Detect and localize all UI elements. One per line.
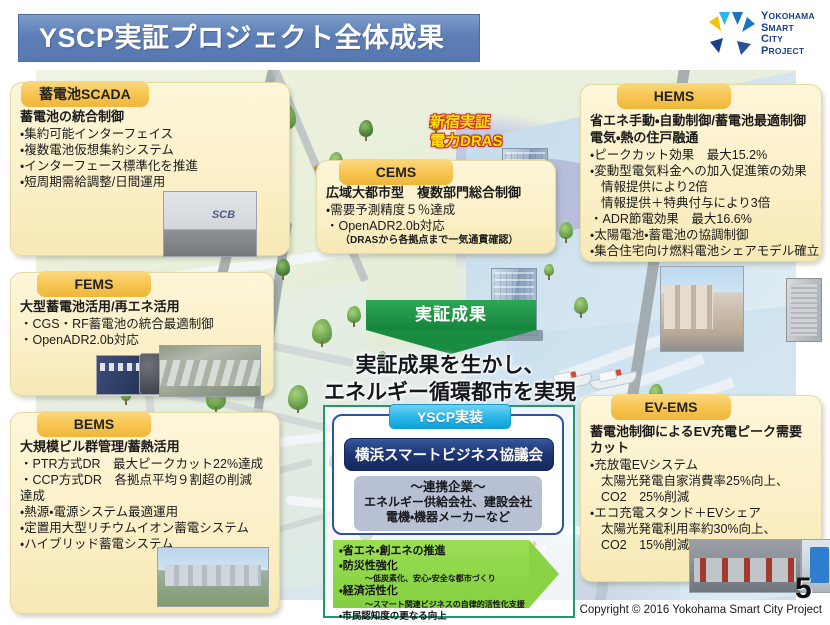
panel-list-item: ・需要予測精度５％達成 <box>326 202 547 218</box>
panel-headline: 蓄電池の統合制御 <box>20 109 281 125</box>
outcomes-arrow: ・省エネ・創エネの推進 ・防災性強化 ～低炭素化、安心・安全な都市づくり ・経済… <box>333 540 559 608</box>
photo-storage-battery-cabinet <box>786 278 822 342</box>
panel-list-item: ・定置用大型リチウムイオン蓄電システム <box>20 520 271 536</box>
panel-headline: 大規模ビル群管理/蓄熱活用 <box>20 439 271 455</box>
photo-minatomirai-buildings <box>157 547 269 607</box>
panel-battery-scada[interactable]: 蓄電池SCADA 蓄電池の統合制御 ・集約可能インターフェイス ・複数電池仮想集… <box>10 82 290 256</box>
yscp-logo: YOKOHAMA SMART CITY PROJECT <box>705 6 825 64</box>
photo-battery-container <box>163 191 257 257</box>
panel-list-item: ・短周期需給調整/日間運用 <box>20 174 281 190</box>
panel-tab-bems: BEMS <box>37 411 151 437</box>
panel-list-item: ・複数電池仮想集約システム <box>20 142 281 158</box>
panel-ev-ems[interactable]: EV-EMS 蓄電池制御によるEV充電ピーク需要カット ・充放電EVシステム 太… <box>580 395 822 582</box>
results-arrow-label: 実証成果 <box>366 300 536 330</box>
slogan-line-1: 実証成果を生かし、 <box>300 352 600 379</box>
slogan-line-2: エネルギー循環都市を実現 <box>300 379 600 406</box>
logo-line-project: PROJECT <box>761 46 830 58</box>
business-council-banner: 横浜スマートビジネス協議会 <box>344 438 554 471</box>
panel-list-item: CO2 25%削減 <box>590 489 813 505</box>
outcome-item: ・省エネ・創エネの推進 <box>339 544 544 559</box>
panel-list-item: 太陽光発電自家消費率25%向上、 <box>590 473 813 489</box>
yscp-logo-mark <box>705 8 759 62</box>
partner-companies-box: ～連携企業～ エネルギー供給会社、建設会社 電機・機器メーカーなど <box>354 476 542 531</box>
slogan: 実証成果を生かし、 エネルギー循環都市を実現 <box>300 352 600 406</box>
panel-list-item: ・集約可能インターフェイス <box>20 126 281 142</box>
photo-ev-parking <box>689 539 801 593</box>
yscp-implementation-badge: YSCP実装 <box>389 404 511 429</box>
panel-list-item: 達成 <box>20 488 271 504</box>
panel-list-item: ・PTR方式DR 最大ピークカット22%達成 <box>20 456 271 472</box>
panel-body-cems: 広域大都市型 複数部門総合制御 ・需要予測精度５％達成 ・OpenADR2.0b… <box>326 185 547 247</box>
page-title: YSCP実証プロジェクト全体成果 <box>19 15 479 61</box>
map-label-shinjuku: 新宿実証 電力DRAS <box>430 113 550 151</box>
partner-companies-line: エネルギー供給会社、建設会社 <box>354 495 542 510</box>
logo-line-city: CITY <box>761 34 830 46</box>
panel-body-hems: 省エネ手動・自動制御/蓄電池最適制御 電気・熱の住戸融通 ・ピークカット効果 最… <box>590 113 813 259</box>
panel-body-fems: 大型蓄電池活用/再エネ活用 ・CGS・RF蓄電池の統合最適制御 ・OpenADR… <box>20 299 265 348</box>
slide-canvas: YSCP実証プロジェクト全体成果 YOKOHAMA SMART CITY PRO… <box>0 0 830 625</box>
outcome-item: ・防災性強化 <box>339 559 544 574</box>
panel-list-item: ・集合住宅向け燃料電池シェアモデル確立 <box>590 243 813 259</box>
partner-companies-line: 電機・機器メーカーなど <box>354 510 542 525</box>
panel-cems[interactable]: CEMS 広域大都市型 複数部門総合制御 ・需要予測精度５％達成 ・OpenAD… <box>316 160 556 254</box>
panel-headline: 広域大都市型 複数部門総合制御 <box>326 185 547 201</box>
panel-tab-fems: FEMS <box>37 271 151 297</box>
panel-tab-battery-scada: 蓄電池SCADA <box>21 81 149 107</box>
logo-line-yokohama: YOKOHAMA <box>761 11 830 23</box>
outcome-subnote: ～低炭素化、安心・安全な都市づくり <box>339 573 544 584</box>
panel-headline-2: 電気・熱の住戸融通 <box>590 130 813 146</box>
panel-list-item: ・熱源・電源システム最適運用 <box>20 504 271 520</box>
panel-body-ev-ems: 蓄電池制御によるEV充電ピーク需要カット ・充放電EVシステム 太陽光発電自家消… <box>590 424 813 553</box>
partner-companies-title: ～連携企業～ <box>354 479 542 495</box>
panel-headline-1: 省エネ手動・自動制御/蓄電池最適制御 <box>590 113 813 129</box>
panel-list-item: ・充放電EVシステム <box>590 457 813 473</box>
panel-note: （DRASから各拠点まで一気通貫確認） <box>326 234 547 247</box>
panel-list-item: 情報提供により2倍 <box>590 179 813 195</box>
photo-battery-unit <box>96 355 143 395</box>
results-arrow-tip <box>366 330 536 354</box>
panel-body-battery-scada: 蓄電池の統合制御 ・集約可能インターフェイス ・複数電池仮想集約システム ・イン… <box>20 109 281 190</box>
panel-list-item: 太陽光発電利用率約30%向上、 <box>590 521 813 537</box>
outcome-item: ・経済活性化 <box>339 584 544 599</box>
panel-list-item: ・インターフェース標準化を推進 <box>20 158 281 174</box>
panel-tab-hems: HEMS <box>617 83 731 109</box>
panel-bems[interactable]: BEMS 大規模ビル群管理/蓄熱活用 ・PTR方式DR 最大ピークカット22%達… <box>10 412 280 614</box>
panel-list-item: ・ピークカット効果 最大15.2% <box>590 147 813 163</box>
implementation-inner-box: YSCP実装 横浜スマートビジネス協議会 ～連携企業～ エネルギー供給会社、建設… <box>332 414 564 535</box>
results-arrow: 実証成果 <box>366 300 536 354</box>
panel-list-item: ・CGS・RF蓄電池の統合最適制御 <box>20 316 265 332</box>
map-label-shinjuku-line2: 電力DRAS <box>429 132 551 151</box>
implementation-section: YSCP実装 横浜スマートビジネス協議会 ～連携企業～ エネルギー供給会社、建設… <box>323 405 575 618</box>
panel-fems[interactable]: FEMS 大型蓄電池活用/再エネ活用 ・CGS・RF蓄電池の統合最適制御 ・Op… <box>10 272 274 396</box>
panel-list-item: ・エコ充電スタンド＋EVシェア <box>590 505 813 521</box>
panel-headline: 蓄電池制御によるEV充電ピーク需要カット <box>590 424 813 456</box>
panel-tab-ev-ems: EV-EMS <box>611 394 731 420</box>
panel-list-item: ・CCP方式DR 各拠点平均９割超の削減 <box>20 472 271 488</box>
panel-list-item: ・変動型電気料金への加入促進策の効果 <box>590 163 813 179</box>
panel-hems[interactable]: HEMS 省エネ手動・自動制御/蓄電池最適制御 電気・熱の住戸融通 ・ピークカッ… <box>580 84 822 262</box>
logo-line-smart: SMART <box>761 23 830 35</box>
panel-headline: 大型蓄電池活用/再エネ活用 <box>20 299 265 315</box>
photo-housing-district <box>660 266 744 352</box>
panel-body-bems: 大規模ビル群管理/蓄熱活用 ・PTR方式DR 最大ピークカット22%達成 ・CC… <box>20 439 271 552</box>
panel-list-item: ・OpenADR2.0b対応 <box>326 218 547 234</box>
map-label-shinjuku-line1: 新宿実証 <box>429 113 551 132</box>
page-number: 5 <box>795 572 812 606</box>
panel-tab-cems: CEMS <box>339 159 453 185</box>
copyright-notice: Copyright © 2016 Yokohama Smart City Pro… <box>0 604 822 616</box>
photo-substation <box>159 345 261 397</box>
panel-list-item: ・ADR節電効果 最大16.6% <box>590 211 813 227</box>
slide-title-bar: YSCP実証プロジェクト全体成果 <box>18 14 480 62</box>
panel-list-item: ・太陽電池・蓄電池の協調制御 <box>590 227 813 243</box>
panel-list-item: 情報提供＋特典付与により3倍 <box>590 195 813 211</box>
yscp-logo-text: YOKOHAMA SMART CITY PROJECT <box>761 11 830 57</box>
